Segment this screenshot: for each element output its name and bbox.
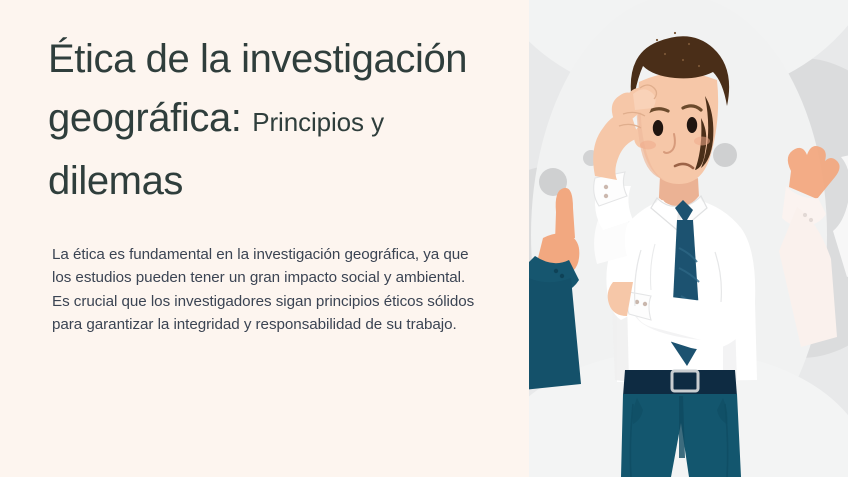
decorative-dot-4 — [713, 143, 737, 167]
thinking-businessman-illustration — [529, 0, 848, 477]
text-panel: Ética de la investigación geográfica: Pr… — [0, 0, 529, 477]
cuff-right-button-1 — [635, 300, 639, 304]
cheek-left — [640, 141, 656, 150]
title-line-3: dilemas — [48, 152, 500, 211]
cheek-right — [694, 137, 710, 146]
cuff-button-1 — [604, 185, 608, 189]
title-subtitle-part: Principios y — [252, 107, 384, 137]
illustration-panel — [529, 0, 848, 477]
eye-left — [653, 120, 663, 136]
eye-right — [687, 117, 697, 133]
slide-root: Ética de la investigación geográfica: Pr… — [0, 0, 848, 477]
page-title: Ética de la investigación geográfica: Pr… — [48, 30, 500, 211]
title-line-2: geográfica: Principios y — [48, 89, 500, 152]
cuff-right-button-2 — [643, 302, 647, 306]
cuff-button-2 — [604, 194, 608, 198]
body-block: La ética es fundamental en la investigac… — [52, 243, 484, 337]
title-main-part: geográfica: — [48, 96, 242, 140]
title-line-1: Ética de la investigación — [48, 30, 500, 89]
body-paragraph: La ética es fundamental en la investigac… — [52, 243, 484, 337]
